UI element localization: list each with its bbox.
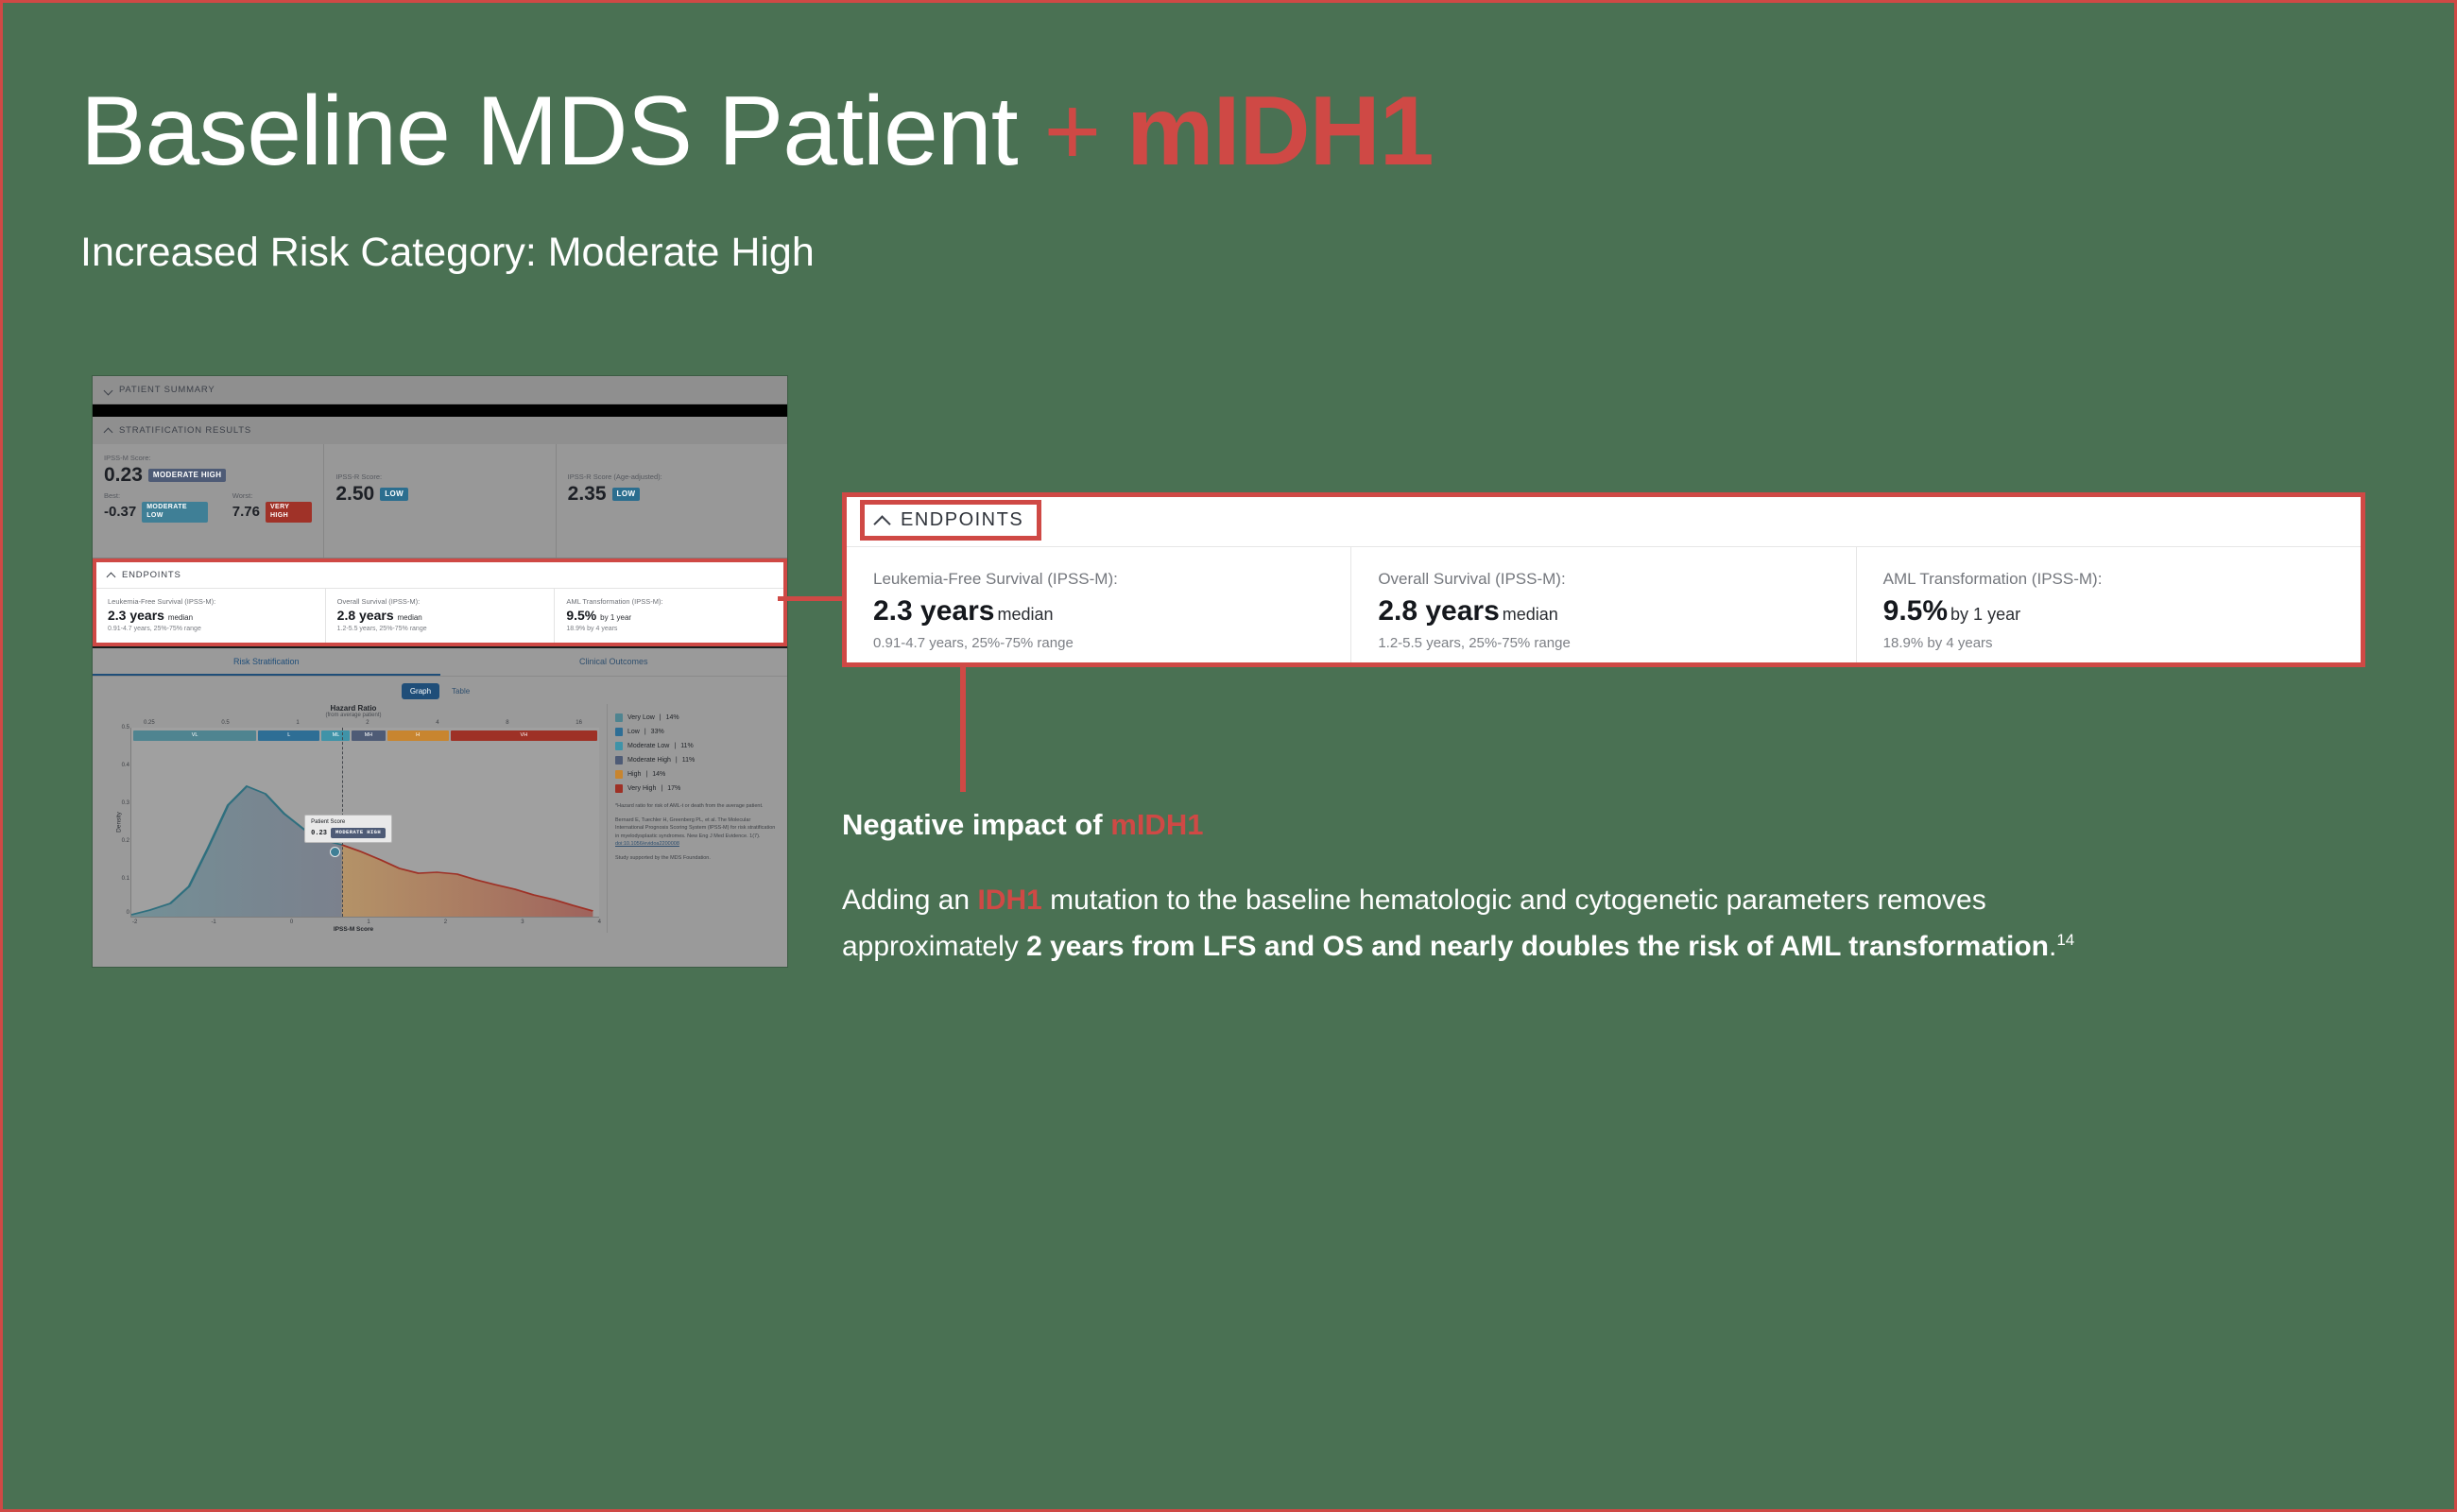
chart-citation-support: Study supported by the MDS Foundation. (615, 854, 776, 863)
legend-item-moderate-low: Moderate Low|11% (615, 742, 776, 750)
tab-risk-stratification[interactable]: Risk Stratification (93, 648, 440, 676)
endpoint-range: 0.91-4.7 years, 25%-75% range (108, 626, 314, 632)
endpoint-range: 0.91-4.7 years, 25%-75% range (873, 635, 1350, 651)
page-title: Baseline MDS Patient + mIDH1 (80, 80, 1434, 183)
legend-item-moderate-high: Moderate High|11% (615, 756, 776, 765)
toggle-table[interactable]: Table (443, 683, 478, 699)
chart-xticks: -2 -1 0 1 2 3 4 (100, 918, 607, 925)
strat-label: IPSS-R Score (Age-adjusted): (568, 472, 776, 481)
strat-worst: Worst: 7.76 VERY HIGH (232, 491, 313, 523)
legend-pct: 14% (666, 714, 679, 721)
endpoints-card: ENDPOINTS Leukemia-Free Survival (IPSS-M… (842, 492, 2365, 667)
tooltip-badge: MODERATE HIGH (331, 828, 386, 838)
endpoint-range: 1.2-5.5 years, 25%-75% range (1378, 635, 1855, 651)
app-thumbnail: PATIENT SUMMARY STRATIFICATION RESULTS I… (93, 376, 787, 967)
strat-label: IPSS-R Score: (335, 472, 543, 481)
callout-body-bold: 2 years from LFS and OS and nearly doubl… (1026, 931, 2049, 962)
tooltip-value-row: 0.23 MODERATE HIGH (311, 828, 386, 838)
ytick: 0.4 (122, 763, 129, 768)
legend-swatch (615, 756, 623, 765)
strat-worst-value: 7.76 (232, 505, 260, 519)
endpoint-range: 18.9% by 4 years (1883, 635, 2361, 651)
legend-swatch (615, 770, 623, 779)
ytick: 0.3 (122, 800, 129, 806)
chart-tabs: Risk Stratification Clinical Outcomes (93, 648, 787, 677)
strat-best-badge: MODERATE LOW (142, 502, 208, 523)
top-tick: 0.5 (221, 720, 229, 726)
endpoint-label: Overall Survival (IPSS-M): (1378, 570, 1855, 589)
endpoint-unit: median (398, 613, 422, 622)
chart-legend: Very Low|14% Low|33% Moderate Low|11% Mo… (607, 704, 780, 933)
callout-body-1: Adding an (842, 885, 977, 916)
citation-text: Bernard E, Tuechler H, Greenberg PL, et … (615, 817, 775, 839)
legend-sep: | (644, 729, 646, 735)
status-badge: MODERATE HIGH (148, 469, 227, 482)
status-badge: LOW (612, 488, 641, 501)
legend-label: Moderate High (627, 757, 671, 764)
endpoint-label: AML Transformation (IPSS-M): (1883, 570, 2361, 589)
thumb-black-divider (93, 404, 787, 417)
endpoint-column-lfs: Leukemia-Free Survival (IPSS-M): 2.3 yea… (847, 547, 1351, 662)
legend-label: High (627, 771, 641, 778)
legend-item-low: Low|33% (615, 728, 776, 736)
thumb-endpoints-header[interactable]: ENDPOINTS (96, 562, 783, 589)
legend-label: Very High (627, 785, 656, 792)
strat-col-ipssr: IPSS-R Score: 2.50 LOW (324, 444, 556, 558)
legend-sep: | (676, 757, 678, 764)
patient-score-tooltip: Patient Score 0.23 MODERATE HIGH (304, 815, 392, 843)
callout-text-block: Negative impact of mIDH1 Adding an IDH1 … (842, 808, 2165, 970)
ytick: 0.2 (122, 838, 129, 844)
xtick: 0 (290, 919, 293, 925)
endpoint-number: 9.5% (566, 608, 596, 623)
chart-footnote: *Hazard ratio for risk of AML-t or death… (615, 802, 776, 811)
endpoint-unit: median (1503, 605, 1558, 624)
tooltip-title: Patient Score (311, 819, 386, 825)
legend-sep: | (661, 785, 662, 792)
callout-superscript: 14 (2056, 931, 2074, 949)
legend-item-high: High|14% (615, 770, 776, 779)
legend-pct: 17% (667, 785, 680, 792)
density-plot: Density 0.5 0.4 0.3 0.2 0.1 0 VL L (130, 728, 599, 918)
top-tick: 16 (576, 720, 582, 726)
thumb-patient-summary-panel: PATIENT SUMMARY (93, 376, 787, 404)
strat-best-value: -0.37 (104, 505, 136, 519)
thumb-endpoint-os: Overall Survival (IPSS-M): 2.8 years med… (326, 589, 556, 643)
xtick: 3 (521, 919, 524, 925)
thumb-patient-summary-title: PATIENT SUMMARY (119, 385, 215, 395)
legend-swatch (615, 742, 623, 750)
top-tick: 2 (366, 720, 369, 726)
chart-yticks: 0.5 0.4 0.3 0.2 0.1 0 (112, 728, 129, 917)
legend-pct: 11% (682, 757, 696, 764)
strat-best: Best: -0.37 MODERATE LOW (104, 491, 208, 523)
strat-worst-label: Worst: (232, 491, 313, 500)
legend-pct: 33% (651, 729, 664, 735)
endpoint-value: 2.8 yearsmedian (1378, 596, 1855, 627)
legend-label: Very Low (627, 714, 655, 721)
xtick: 4 (598, 919, 601, 925)
chart-top-axis-ticks: 0.25 0.5 1 2 4 8 16 (100, 720, 607, 726)
thumb-chart-panel: Risk Stratification Clinical Outcomes Gr… (93, 646, 787, 936)
callout-body: Adding an IDH1 mutation to the baseline … (842, 878, 2165, 970)
status-badge: LOW (380, 488, 408, 501)
strat-col-ipssm: IPSS-M Score: 0.23 MODERATE HIGH Best: -… (93, 444, 324, 558)
tab-clinical-outcomes[interactable]: Clinical Outcomes (440, 648, 788, 676)
endpoint-range: 1.2-5.5 years, 25%-75% range (337, 626, 543, 632)
endpoint-number: 2.3 years (108, 608, 164, 623)
chevron-up-icon (107, 571, 115, 579)
callout-heading-accent: mIDH1 (1110, 808, 1203, 841)
endpoint-value: 2.3 yearsmedian (873, 596, 1350, 627)
chevron-down-icon (104, 386, 112, 394)
legend-label: Low (627, 729, 640, 735)
endpoint-label: Leukemia-Free Survival (IPSS-M): (108, 597, 314, 606)
strat-value: 2.50 (335, 484, 374, 504)
endpoints-header-highlight[interactable]: ENDPOINTS (860, 500, 1041, 541)
thumb-endpoints-panel: ENDPOINTS Leukemia-Free Survival (IPSS-M… (93, 558, 787, 646)
toggle-graph[interactable]: Graph (402, 683, 439, 699)
xtick: -1 (211, 919, 215, 925)
strat-col-ipssr-age: IPSS-R Score (Age-adjusted): 2.35 LOW (557, 444, 787, 558)
endpoint-value: 9.5% by 1 year (566, 609, 772, 623)
chart-xlabel: IPSS-M Score (100, 926, 607, 933)
endpoint-unit: median (168, 613, 193, 622)
endpoint-number: 9.5% (1883, 595, 1948, 627)
endpoint-label: AML Transformation (IPSS-M): (566, 597, 772, 606)
endpoint-range: 18.9% by 4 years (566, 626, 772, 632)
title-plus: + (1044, 77, 1127, 186)
ytick: 0.1 (122, 876, 129, 882)
endpoint-value: 2.3 years median (108, 609, 314, 623)
endpoints-card-header: ENDPOINTS (847, 497, 2361, 547)
view-toggle: Graph Table (93, 677, 787, 702)
endpoint-label: Overall Survival (IPSS-M): (337, 597, 543, 606)
endpoint-unit: median (997, 605, 1053, 624)
legend-sep: | (660, 714, 661, 721)
strat-value: 0.23 (104, 465, 143, 485)
callout-heading: Negative impact of mIDH1 (842, 808, 2165, 842)
chart-area: Hazard Ratio (from average patient) 0.25… (93, 702, 787, 933)
page-subtitle: Increased Risk Category: Moderate High (80, 230, 815, 276)
legend-sep: | (645, 771, 647, 778)
chevron-up-icon (104, 426, 112, 435)
chart-notes: *Hazard ratio for risk of AML-t or death… (615, 802, 776, 862)
slide-canvas: Baseline MDS Patient + mIDH1 Increased R… (3, 3, 2454, 1509)
strat-best-label: Best: (104, 491, 208, 500)
endpoints-card-body: Leukemia-Free Survival (IPSS-M): 2.3 yea… (847, 547, 2361, 662)
legend-swatch (615, 713, 623, 722)
strat-value: 2.35 (568, 484, 607, 504)
thumb-patient-summary-header[interactable]: PATIENT SUMMARY (93, 376, 787, 404)
title-main: Baseline MDS Patient (80, 77, 1044, 186)
xtick: 1 (367, 919, 369, 925)
legend-item-very-low: Very Low|14% (615, 713, 776, 722)
legend-sep: | (674, 743, 676, 749)
chart-title: Hazard Ratio (100, 704, 607, 713)
legend-swatch (615, 784, 623, 793)
endpoint-column-os: Overall Survival (IPSS-M): 2.8 yearsmedi… (1351, 547, 1856, 662)
chart-plot-region: Hazard Ratio (from average patient) 0.25… (100, 704, 607, 933)
endpoints-card-title: ENDPOINTS (901, 509, 1023, 531)
citation-doi-link[interactable]: doi:10.1056/evidoa2200008 (615, 841, 679, 847)
endpoint-column-aml: AML Transformation (IPSS-M): 9.5%by 1 ye… (1857, 547, 2361, 662)
ytick: 0 (127, 910, 129, 916)
endpoint-value: 9.5%by 1 year (1883, 596, 2361, 627)
legend-pct: 14% (652, 771, 665, 778)
tooltip-value: 0.23 (311, 830, 327, 837)
top-tick: 4 (436, 720, 438, 726)
thumb-stratification-title: STRATIFICATION RESULTS (119, 425, 251, 436)
legend-label: Moderate Low (627, 743, 669, 749)
strat-label: IPSS-M Score: (104, 454, 312, 462)
title-accent: mIDH1 (1126, 77, 1433, 186)
thumb-stratification-header[interactable]: STRATIFICATION RESULTS (93, 417, 787, 444)
endpoint-number: 2.3 years (873, 595, 994, 627)
chevron-up-icon (874, 512, 889, 527)
thumb-endpoints-row: Leukemia-Free Survival (IPSS-M): 2.3 yea… (96, 589, 783, 643)
endpoint-unit: by 1 year (1950, 605, 2020, 624)
endpoint-unit: by 1 year (600, 613, 631, 622)
callout-heading-plain: Negative impact of (842, 808, 1110, 841)
chart-citation: Bernard E, Tuechler H, Greenberg PL, et … (615, 816, 776, 849)
endpoint-value: 2.8 years median (337, 609, 543, 623)
thumb-endpoints-title: ENDPOINTS (122, 570, 181, 580)
callout-body-accent: IDH1 (977, 885, 1041, 916)
thumb-stratification-row: IPSS-M Score: 0.23 MODERATE HIGH Best: -… (93, 444, 787, 558)
top-tick: 1 (296, 720, 299, 726)
thumb-endpoint-aml: AML Transformation (IPSS-M): 9.5% by 1 y… (555, 589, 783, 643)
xtick: 2 (444, 919, 447, 925)
xtick: -2 (132, 919, 137, 925)
endpoint-label: Leukemia-Free Survival (IPSS-M): (873, 570, 1350, 589)
legend-swatch (615, 728, 623, 736)
ytick: 0.5 (122, 725, 129, 730)
top-tick: 0.25 (144, 720, 155, 726)
legend-pct: 11% (680, 743, 694, 749)
strat-worst-badge: VERY HIGH (266, 502, 312, 523)
legend-item-very-high: Very High|17% (615, 784, 776, 793)
thumb-stratification-panel: STRATIFICATION RESULTS IPSS-M Score: 0.2… (93, 417, 787, 558)
endpoint-number: 2.8 years (1378, 595, 1499, 627)
top-tick: 8 (506, 720, 508, 726)
endpoint-number: 2.8 years (337, 608, 394, 623)
thumb-endpoint-lfs: Leukemia-Free Survival (IPSS-M): 2.3 yea… (96, 589, 326, 643)
chart-subtitle: (from average patient) (100, 713, 607, 718)
